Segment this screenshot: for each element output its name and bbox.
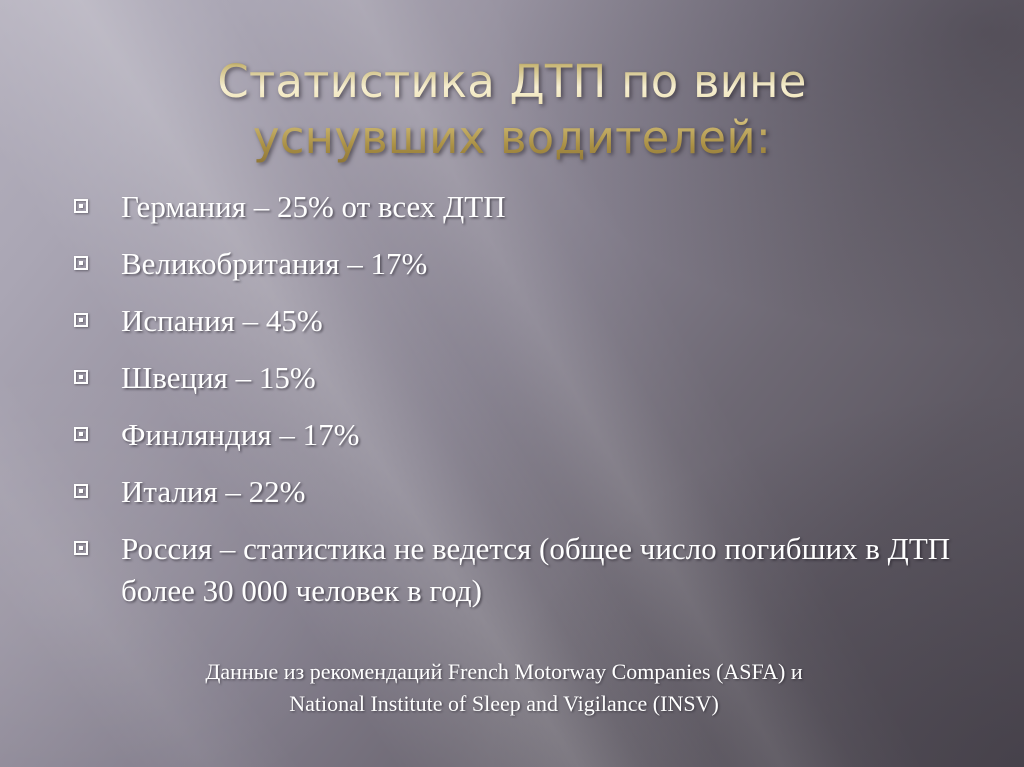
list-item: Великобритания – 17% xyxy=(74,243,964,285)
statistics-bullet-list: Германия – 25% от всех ДТП Великобритани… xyxy=(74,186,964,627)
square-bullet-icon xyxy=(74,313,88,327)
square-bullet-icon xyxy=(74,256,88,270)
source-footnote: Данные из рекомендаций French Motorway C… xyxy=(74,656,934,720)
list-item: Германия – 25% от всех ДТП xyxy=(74,186,964,228)
list-item: Россия – статистика не ведется (общее чи… xyxy=(74,528,964,612)
square-bullet-icon xyxy=(74,370,88,384)
slide-title: Статистика ДТП по вине уснувших водителе… xyxy=(70,54,954,166)
list-item: Испания – 45% xyxy=(74,300,964,342)
presentation-slide: Статистика ДТП по вине уснувших водителе… xyxy=(0,0,1024,767)
list-item: Финляндия – 17% xyxy=(74,414,964,456)
square-bullet-icon xyxy=(74,541,88,555)
list-item-label: Великобритания – 17% xyxy=(121,243,964,285)
list-item: Италия – 22% xyxy=(74,471,964,513)
square-bullet-icon xyxy=(74,427,88,441)
square-bullet-icon xyxy=(74,484,88,498)
square-bullet-icon xyxy=(74,199,88,213)
list-item-label: Германия – 25% от всех ДТП xyxy=(121,186,964,228)
list-item: Швеция – 15% xyxy=(74,357,964,399)
list-item-label: Россия – статистика не ведется (общее чи… xyxy=(121,528,964,612)
list-item-label: Испания – 45% xyxy=(121,300,964,342)
list-item-label: Италия – 22% xyxy=(121,471,964,513)
list-item-label: Финляндия – 17% xyxy=(121,414,964,456)
list-item-label: Швеция – 15% xyxy=(121,357,964,399)
